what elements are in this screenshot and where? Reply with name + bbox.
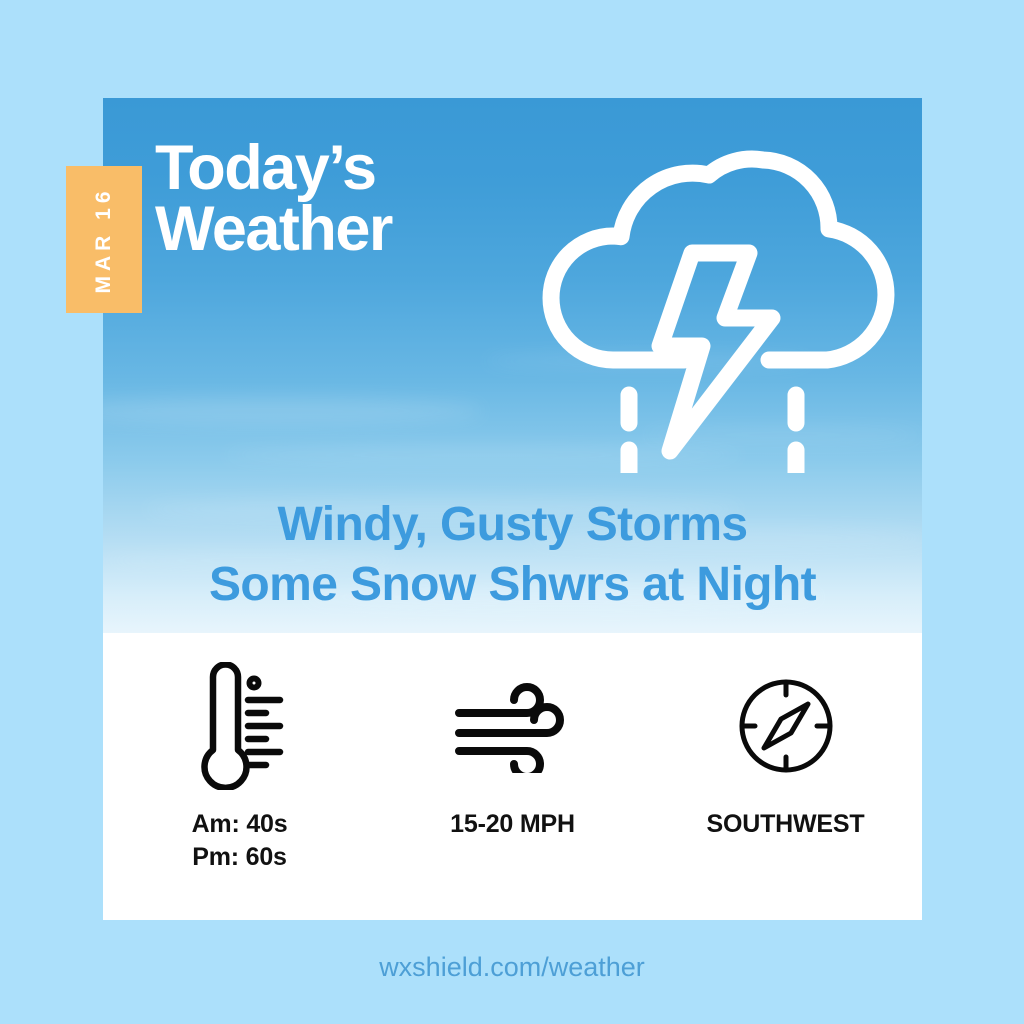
forecast-line-1: Windy, Gusty Storms [103,495,922,555]
stats-card: Am: 40s Pm: 60s 15-20 MPH [103,633,922,920]
stat-wind: 15-20 MPH [388,633,638,841]
stat-direction-label: SOUTHWEST [707,808,865,841]
stat-temperature-am: Am: 40s [192,808,288,841]
page-title: Today’s Weather [155,138,392,260]
stat-wind-label: 15-20 MPH [450,808,575,841]
forecast-headline: Windy, Gusty Storms Some Snow Shwrs at N… [103,495,922,616]
footer-url[interactable]: wxshield.com/weather [0,952,1024,983]
weather-poster: MAR 16 Today’s Weather Windy, Gusty Stor… [0,0,1024,1024]
compass-icon [731,663,841,788]
wind-icon [451,663,575,788]
stat-direction: SOUTHWEST [661,633,911,841]
thunderstorm-icon [516,133,906,473]
thermometer-icon [192,663,288,788]
page-title-line-1: Today’s [155,138,392,199]
stat-temperature-pm: Pm: 60s [192,841,288,874]
page-title-line-2: Weather [155,199,392,260]
cloud-streak [103,398,483,424]
stat-temperature: Am: 40s Pm: 60s [115,633,365,874]
forecast-line-2: Some Snow Shwrs at Night [103,555,922,615]
date-badge-label: MAR 16 [92,186,116,293]
stat-temperature-label: Am: 40s Pm: 60s [192,808,288,874]
date-badge: MAR 16 [66,166,142,313]
